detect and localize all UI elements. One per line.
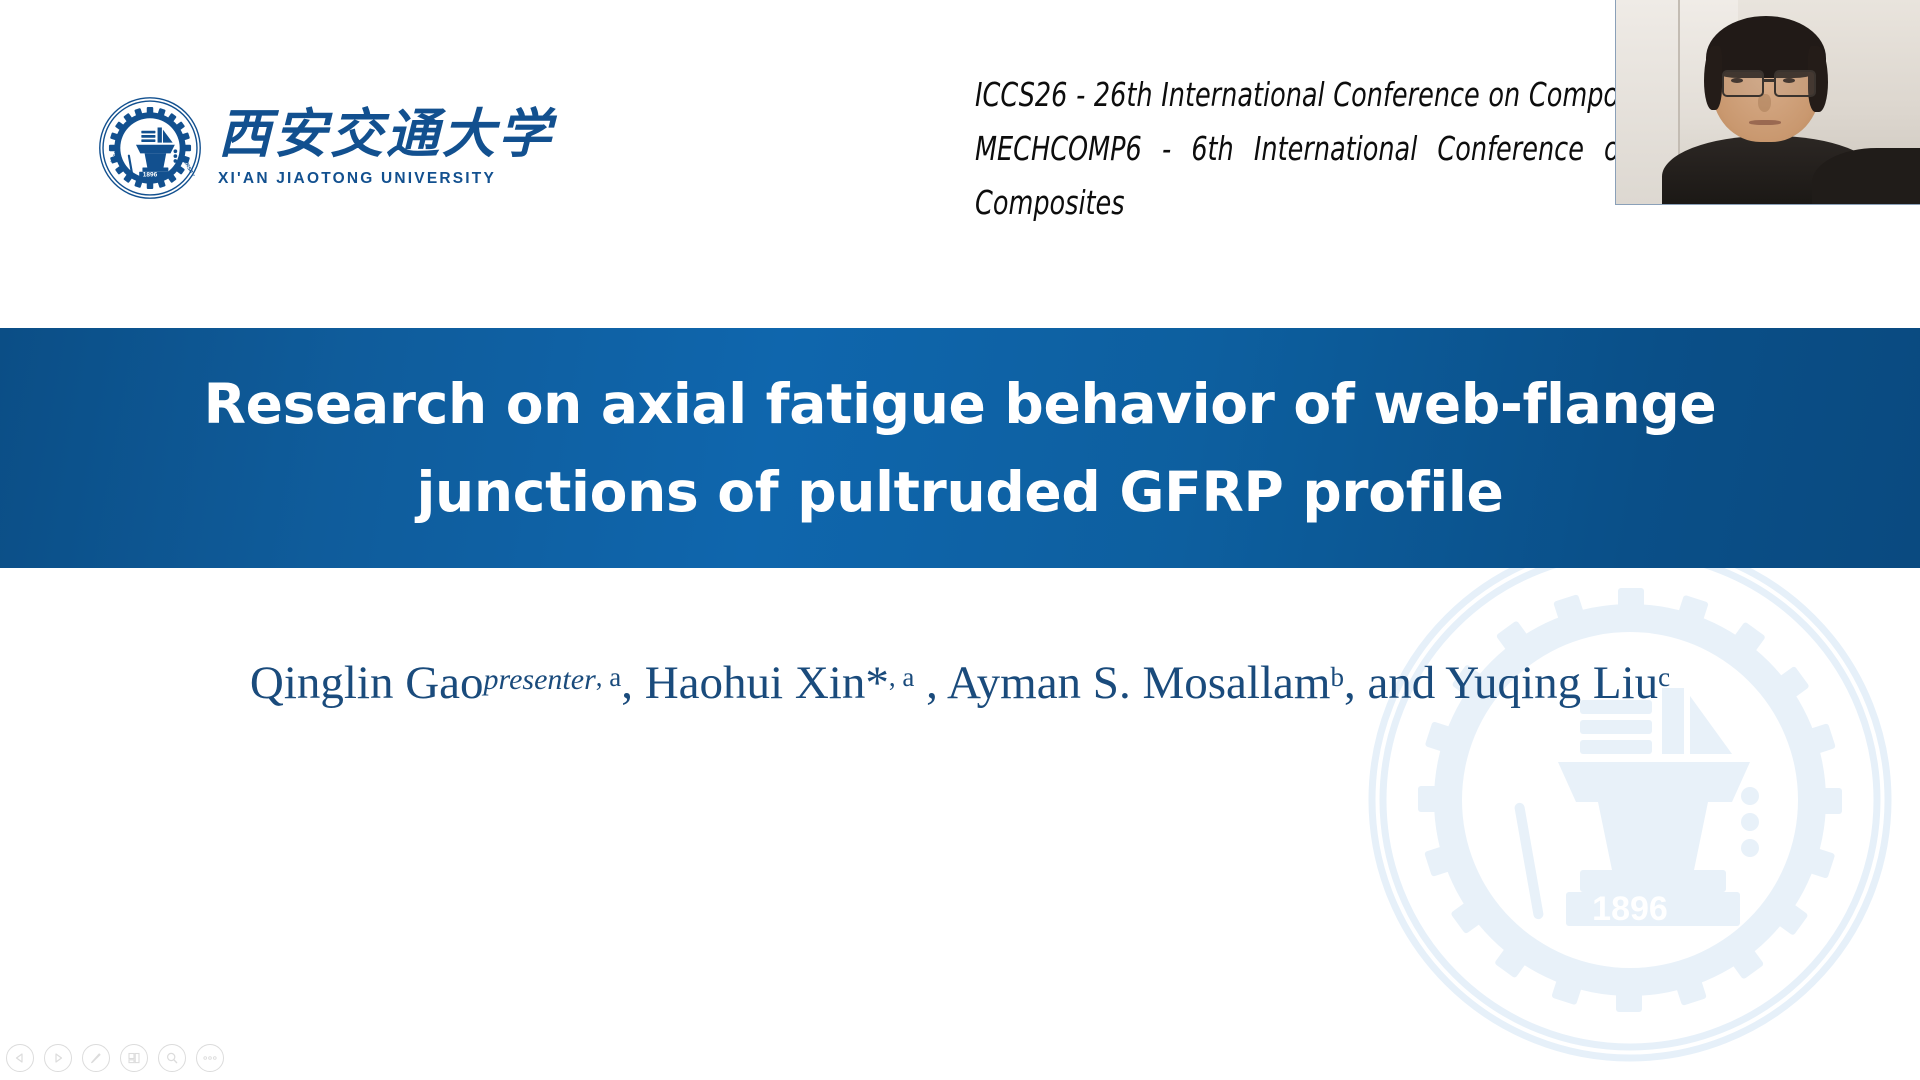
presenter-mouth <box>1749 120 1781 125</box>
presenter-camera-feed[interactable] <box>1615 0 1920 205</box>
presentation-slide: 1896 <box>0 0 1920 1080</box>
zoom-button[interactable] <box>158 1044 186 1072</box>
logo-name-english: XI'AN JIAOTONG UNIVERSITY <box>218 170 554 188</box>
author-marks-3: b <box>1330 662 1344 692</box>
author-name-3: Ayman S. Mosallam <box>947 657 1330 709</box>
slide-body: Qinglin Gaopresenter, a, Haohui Xin*, a … <box>0 568 1920 1080</box>
logo-name-chinese: 西安交通大学 <box>218 108 554 164</box>
previous-slide-button[interactable] <box>6 1044 34 1072</box>
author-line: Qinglin Gaopresenter, a, Haohui Xin*, a … <box>0 656 1920 710</box>
author-name-2: Haohui Xin <box>645 657 866 709</box>
layout-button[interactable] <box>120 1044 148 1072</box>
pen-icon <box>89 1051 103 1065</box>
presentation-title: Research on axial fatigue behavior of we… <box>140 360 1780 536</box>
glasses-lens-left <box>1722 70 1764 97</box>
triangle-left-icon <box>14 1052 26 1064</box>
author-marks-1: , a <box>596 662 621 692</box>
slideshow-toolbar <box>6 1044 224 1072</box>
more-options-button[interactable] <box>196 1044 224 1072</box>
author-marks-4: c <box>1658 662 1670 692</box>
author-marks-2: , a <box>889 662 914 692</box>
glasses-lens-right <box>1774 70 1816 97</box>
author-role-1: presenter <box>484 663 596 696</box>
next-slide-button[interactable] <box>44 1044 72 1072</box>
logo-text: 西安交通大学 XI'AN JIAOTONG UNIVERSITY <box>218 108 554 189</box>
annotate-button[interactable] <box>82 1044 110 1072</box>
title-banner: Research on axial fatigue behavior of we… <box>0 328 1920 568</box>
magnifier-icon <box>165 1051 179 1065</box>
glasses-bridge <box>1762 79 1774 82</box>
author-sep-2: , <box>914 657 947 709</box>
triangle-right-icon <box>52 1052 64 1064</box>
author-sep-1: , <box>621 657 645 709</box>
author-name-1: Qinglin Gao <box>250 657 484 709</box>
presenter-glasses-icon <box>1720 70 1814 94</box>
author-sep-3: , <box>1344 657 1368 709</box>
svg-text:1896: 1896 <box>143 172 158 179</box>
university-logo: 1896 XI'AN VERSITY 西安交通大学 XI'AN JIAOTONG… <box>96 88 566 208</box>
corresponding-author-star: * <box>865 657 889 709</box>
ellipsis-icon <box>202 1055 218 1061</box>
grid-icon <box>127 1051 141 1065</box>
author-name-4: and Yuqing Liu <box>1367 657 1658 709</box>
university-seal-icon: 1896 XI'AN VERSITY <box>96 94 204 202</box>
